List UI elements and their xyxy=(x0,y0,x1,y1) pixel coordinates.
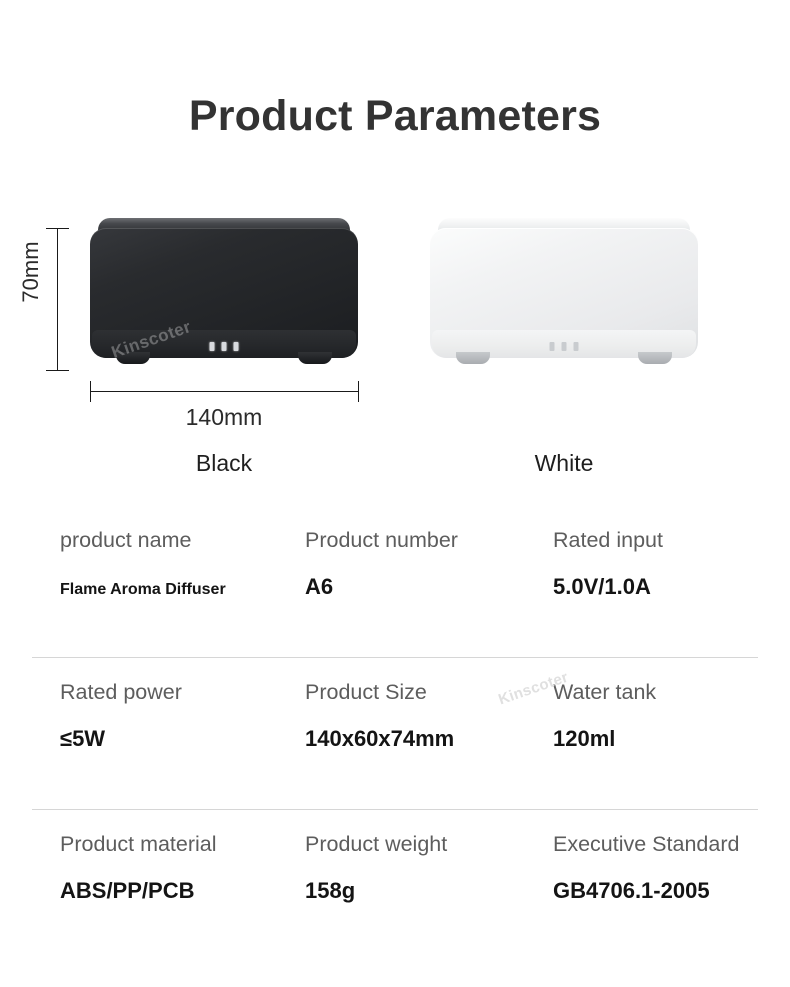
device-foot-right xyxy=(638,352,672,364)
led-indicator-icon xyxy=(234,342,239,351)
row-divider xyxy=(32,809,758,810)
spec-cell: Product Size 140x60x74mm xyxy=(305,681,454,751)
spec-cell: Rated input 5.0V/1.0A xyxy=(553,529,663,599)
spec-value: 5.0V/1.0A xyxy=(553,575,663,599)
product-image-black xyxy=(90,218,358,368)
device-foot-left xyxy=(116,352,150,364)
product-showcase xyxy=(0,200,790,490)
spec-label: Product Size xyxy=(305,681,454,705)
device-foot-left xyxy=(456,352,490,364)
spec-label: Product weight xyxy=(305,833,447,857)
spec-label: Water tank xyxy=(553,681,656,705)
width-dimension-line xyxy=(90,391,358,392)
spec-label: Rated power xyxy=(60,681,182,705)
spec-row: product name Flame Aroma Diffuser Produc… xyxy=(0,505,790,657)
spec-label: product name xyxy=(60,529,226,553)
spec-label: Product material xyxy=(60,833,217,857)
spec-value: ≤5W xyxy=(60,727,182,751)
variant-label-white: White xyxy=(430,450,698,477)
row-divider xyxy=(32,657,758,658)
spec-value: 158g xyxy=(305,879,447,903)
led-indicator-icon xyxy=(574,342,579,351)
device-led-indicators xyxy=(550,342,579,351)
spec-cell: Rated power ≤5W xyxy=(60,681,182,751)
height-dimension-cap-top xyxy=(46,228,69,229)
width-dimension-cap-right xyxy=(358,381,359,402)
height-dimension-label: 70mm xyxy=(18,232,44,312)
led-indicator-icon xyxy=(550,342,555,351)
variant-label-black: Black xyxy=(90,450,358,477)
product-image-white xyxy=(430,218,698,368)
page-title: Product Parameters xyxy=(0,92,790,141)
device-led-indicators xyxy=(210,342,239,351)
width-dimension-cap-left xyxy=(90,381,91,402)
spec-value: 120ml xyxy=(553,727,656,751)
width-dimension-label: 140mm xyxy=(90,404,358,431)
spec-label: Product number xyxy=(305,529,458,553)
spec-table: product name Flame Aroma Diffuser Produc… xyxy=(0,505,790,961)
spec-value: 140x60x74mm xyxy=(305,727,454,751)
led-indicator-icon xyxy=(562,342,567,351)
spec-cell: Product material ABS/PP/PCB xyxy=(60,833,217,903)
device-foot-right xyxy=(298,352,332,364)
spec-value: ABS/PP/PCB xyxy=(60,879,217,903)
spec-label: Executive Standard xyxy=(553,833,739,857)
spec-value: GB4706.1-2005 xyxy=(553,879,739,903)
height-dimension-cap-bottom xyxy=(46,370,69,371)
spec-row: Rated power ≤5W Product Size 140x60x74mm… xyxy=(0,657,790,809)
spec-cell: Executive Standard GB4706.1-2005 xyxy=(553,833,739,903)
spec-cell: Product weight 158g xyxy=(305,833,447,903)
spec-cell: Product number A6 xyxy=(305,529,458,599)
spec-cell: product name Flame Aroma Diffuser xyxy=(60,529,226,598)
height-dimension-line xyxy=(57,228,58,370)
spec-label: Rated input xyxy=(553,529,663,553)
led-indicator-icon xyxy=(210,342,215,351)
spec-row: Product material ABS/PP/PCB Product weig… xyxy=(0,809,790,961)
led-indicator-icon xyxy=(222,342,227,351)
spec-value: A6 xyxy=(305,575,458,599)
spec-cell: Water tank 120ml xyxy=(553,681,656,751)
spec-value: Flame Aroma Diffuser xyxy=(60,581,226,599)
